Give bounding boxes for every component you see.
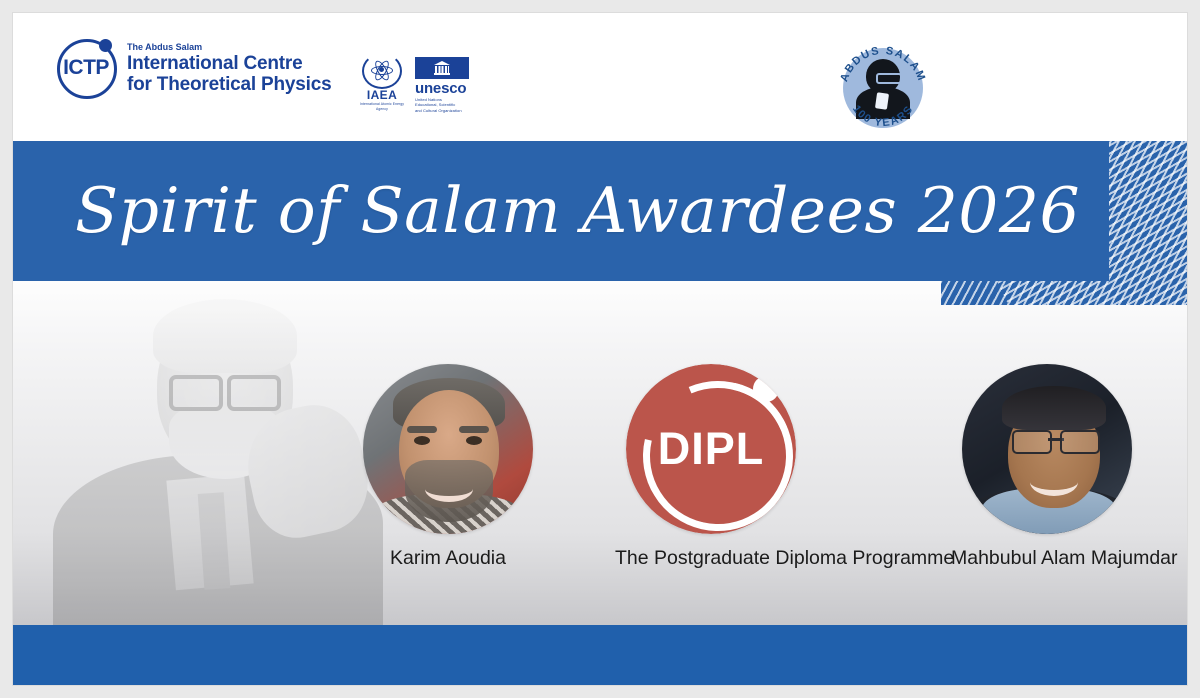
- svg-text:ABDUS SALAM: ABDUS SALAM: [838, 45, 927, 84]
- awardee-mahbubul-alam-majumdar[interactable]: Mahbubul Alam Majumdar: [951, 364, 1143, 570]
- ictp-tagline: The Abdus Salam: [127, 42, 331, 53]
- abdus-salam-centenary-badge: ABDUS SALAM 100 YEARS: [836, 41, 930, 135]
- dipl-circle: DIPL: [626, 364, 796, 534]
- poster-card: ICTP The Abdus Salam International Centr…: [13, 13, 1187, 685]
- unesco-subtitle-line3: and Cultural Organization: [415, 108, 471, 113]
- ictp-wordmark: The Abdus Salam International Centre for…: [127, 42, 331, 95]
- avatar: [363, 364, 533, 534]
- ictp-name-line2: for Theoretical Physics: [127, 74, 331, 95]
- unesco-wordmark: unesco: [415, 80, 471, 97]
- iaea-name: IAEA: [354, 88, 410, 102]
- footer-bar: [13, 625, 1187, 685]
- iaea-logo: IAEA International Atomic Energy Agency: [354, 53, 410, 112]
- unesco-temple-icon: [434, 61, 450, 75]
- ictp-orbit-icon: ICTP: [55, 37, 117, 99]
- awardee-name: Karim Aoudia: [352, 547, 544, 570]
- ictp-mark-text: ICTP: [55, 37, 117, 99]
- iaea-atom: [371, 59, 391, 79]
- awardee-name: Mahbubul Alam Majumdar: [951, 547, 1143, 570]
- unesco-logo: unesco United Nations Educational, Scien…: [415, 57, 471, 113]
- dipl-logo-text: DIPL: [626, 364, 796, 534]
- unesco-emblem-box: [415, 57, 469, 79]
- avatar: [962, 364, 1132, 534]
- badge-text-ring: ABDUS SALAM 100 YEARS: [836, 41, 930, 135]
- svg-text:100 YEARS: 100 YEARS: [850, 103, 916, 129]
- logo-header-band: ICTP The Abdus Salam International Centr…: [13, 13, 1187, 141]
- dipl-logo: DIPL: [626, 364, 796, 534]
- awardee-name: The Postgraduate Diploma Programme: [615, 547, 807, 570]
- page-title: Spirit of Salam Awardees 2026: [75, 179, 1080, 242]
- title-banner: Spirit of Salam Awardees 2026: [13, 140, 1109, 281]
- awardee-karim-aoudia[interactable]: Karim Aoudia: [352, 364, 544, 570]
- ictp-name-line1: International Centre: [127, 53, 331, 74]
- iaea-atom-icon: [362, 53, 402, 87]
- iaea-subtitle: International Atomic Energy Agency: [354, 102, 410, 112]
- ictp-logo: ICTP The Abdus Salam International Centr…: [55, 37, 331, 99]
- awardee-postgraduate-diploma-programme[interactable]: DIPL The Postgraduate Diploma Programme: [615, 364, 807, 570]
